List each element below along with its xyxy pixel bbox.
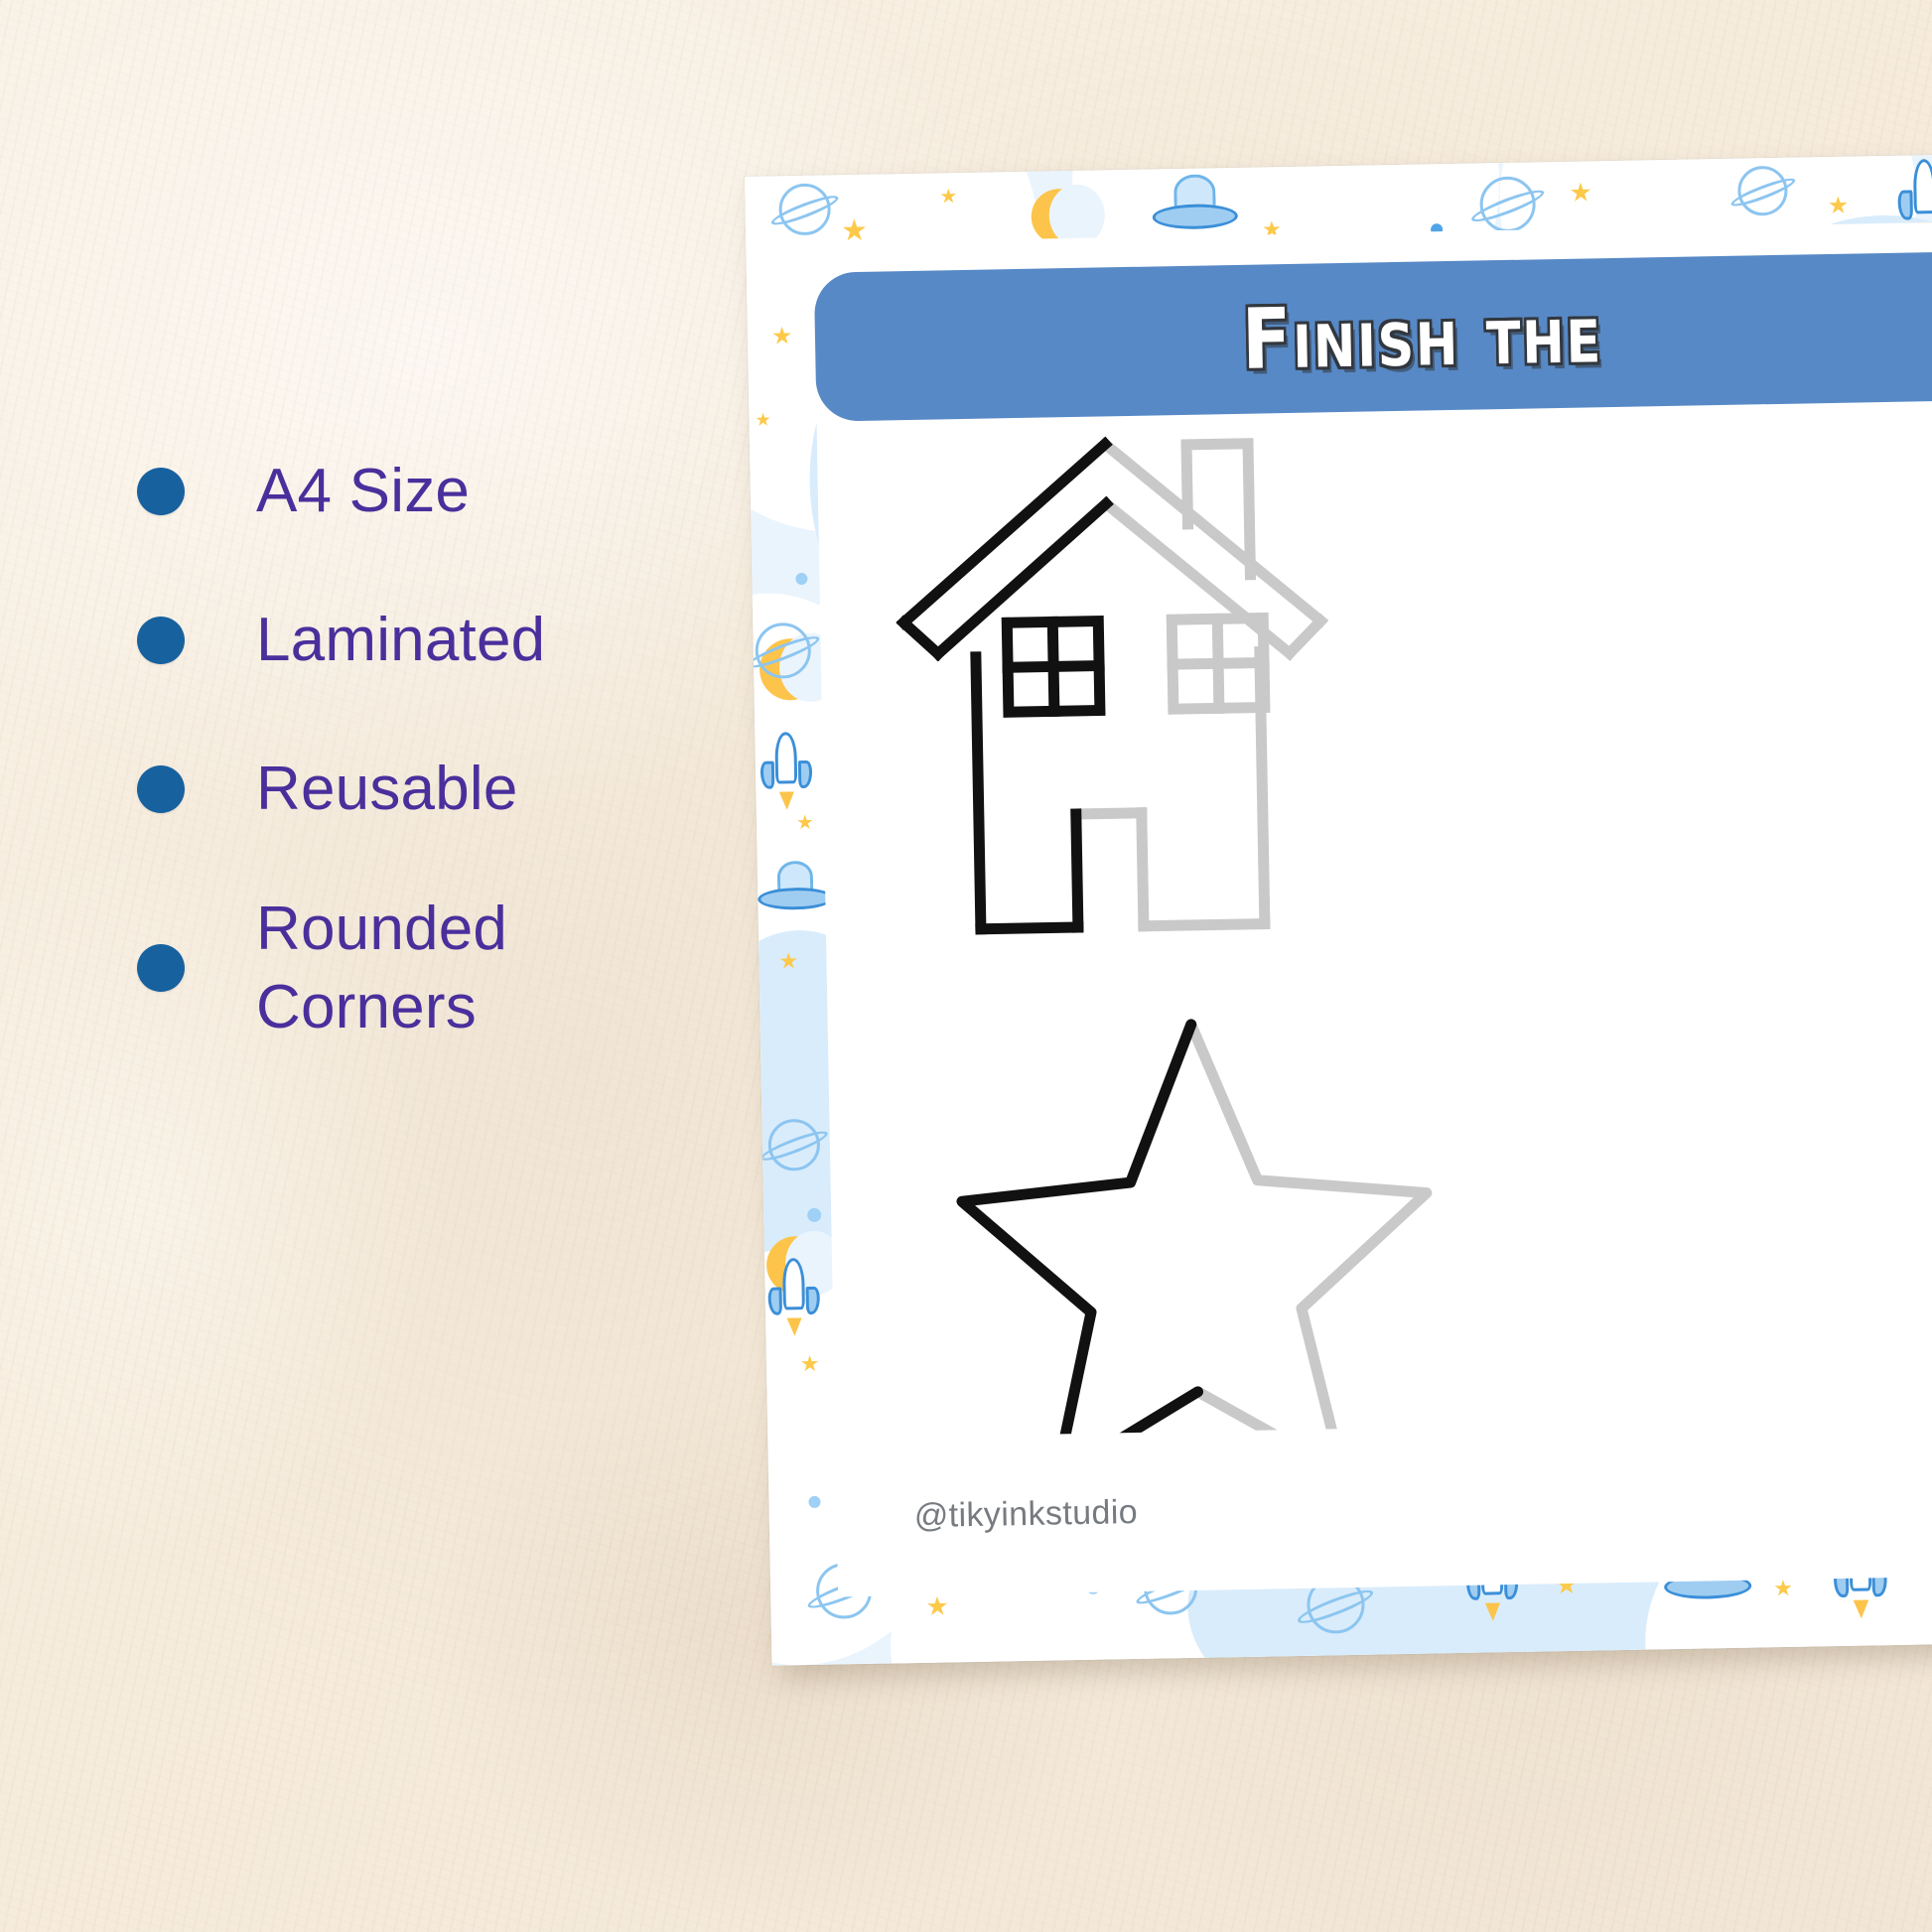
feature-label: Reusable <box>256 750 518 828</box>
star-icon: ★ <box>800 1353 820 1375</box>
house-done-black-path <box>900 444 1114 930</box>
crescent-moon-icon <box>1031 189 1087 245</box>
list-item: A4 Size <box>137 417 772 566</box>
bullet-dot-icon <box>137 765 185 813</box>
trace-shapes <box>889 422 1562 1437</box>
ufo-icon <box>1152 174 1238 237</box>
star-icon: ★ <box>771 325 793 348</box>
star-done-black-path <box>959 1025 1199 1437</box>
bullet-dot-icon <box>137 617 185 664</box>
bullet-dot-icon <box>137 944 185 992</box>
star-todo-gray-path <box>1191 1021 1432 1438</box>
star-icon: ★ <box>1828 195 1850 218</box>
house-todo-gray-path <box>1069 440 1326 926</box>
star-icon: ★ <box>755 411 770 429</box>
rocket-icon <box>759 732 813 802</box>
feature-list: A4 Size Laminated Reusable Rounded Corne… <box>137 417 772 1072</box>
bullet-dot-icon <box>137 468 185 515</box>
title-banner: Finish the <box>814 247 1932 421</box>
star-icon: ★ <box>925 1592 949 1618</box>
list-item: Laminated <box>137 566 772 715</box>
star-icon: ★ <box>796 813 814 833</box>
feature-label: A4 Size <box>256 452 470 530</box>
rocket-icon <box>766 1258 821 1328</box>
star-icon: ★ <box>1773 1578 1793 1599</box>
star-icon: ★ <box>1569 179 1592 205</box>
printable-worksheet-card: ★ ★ ★ ★ ★ ★ ★ ★ ★ ★ ★ ★ <box>745 153 1932 1666</box>
list-item: Rounded Corners <box>137 864 772 1072</box>
page-title: Finish the <box>1241 284 1602 388</box>
feature-label: Rounded Corners <box>256 890 507 1047</box>
star-icon: ★ <box>778 950 798 972</box>
star-trace-shape <box>959 1021 1432 1438</box>
ufo-icon <box>758 860 834 916</box>
star-icon: ★ <box>939 187 957 207</box>
watermark-handle: @tikyinkstudio <box>913 1493 1138 1536</box>
list-item: Reusable <box>137 715 772 864</box>
house-trace-shape <box>900 440 1326 930</box>
dot-icon <box>795 573 807 585</box>
feature-label: Laminated <box>256 601 545 679</box>
